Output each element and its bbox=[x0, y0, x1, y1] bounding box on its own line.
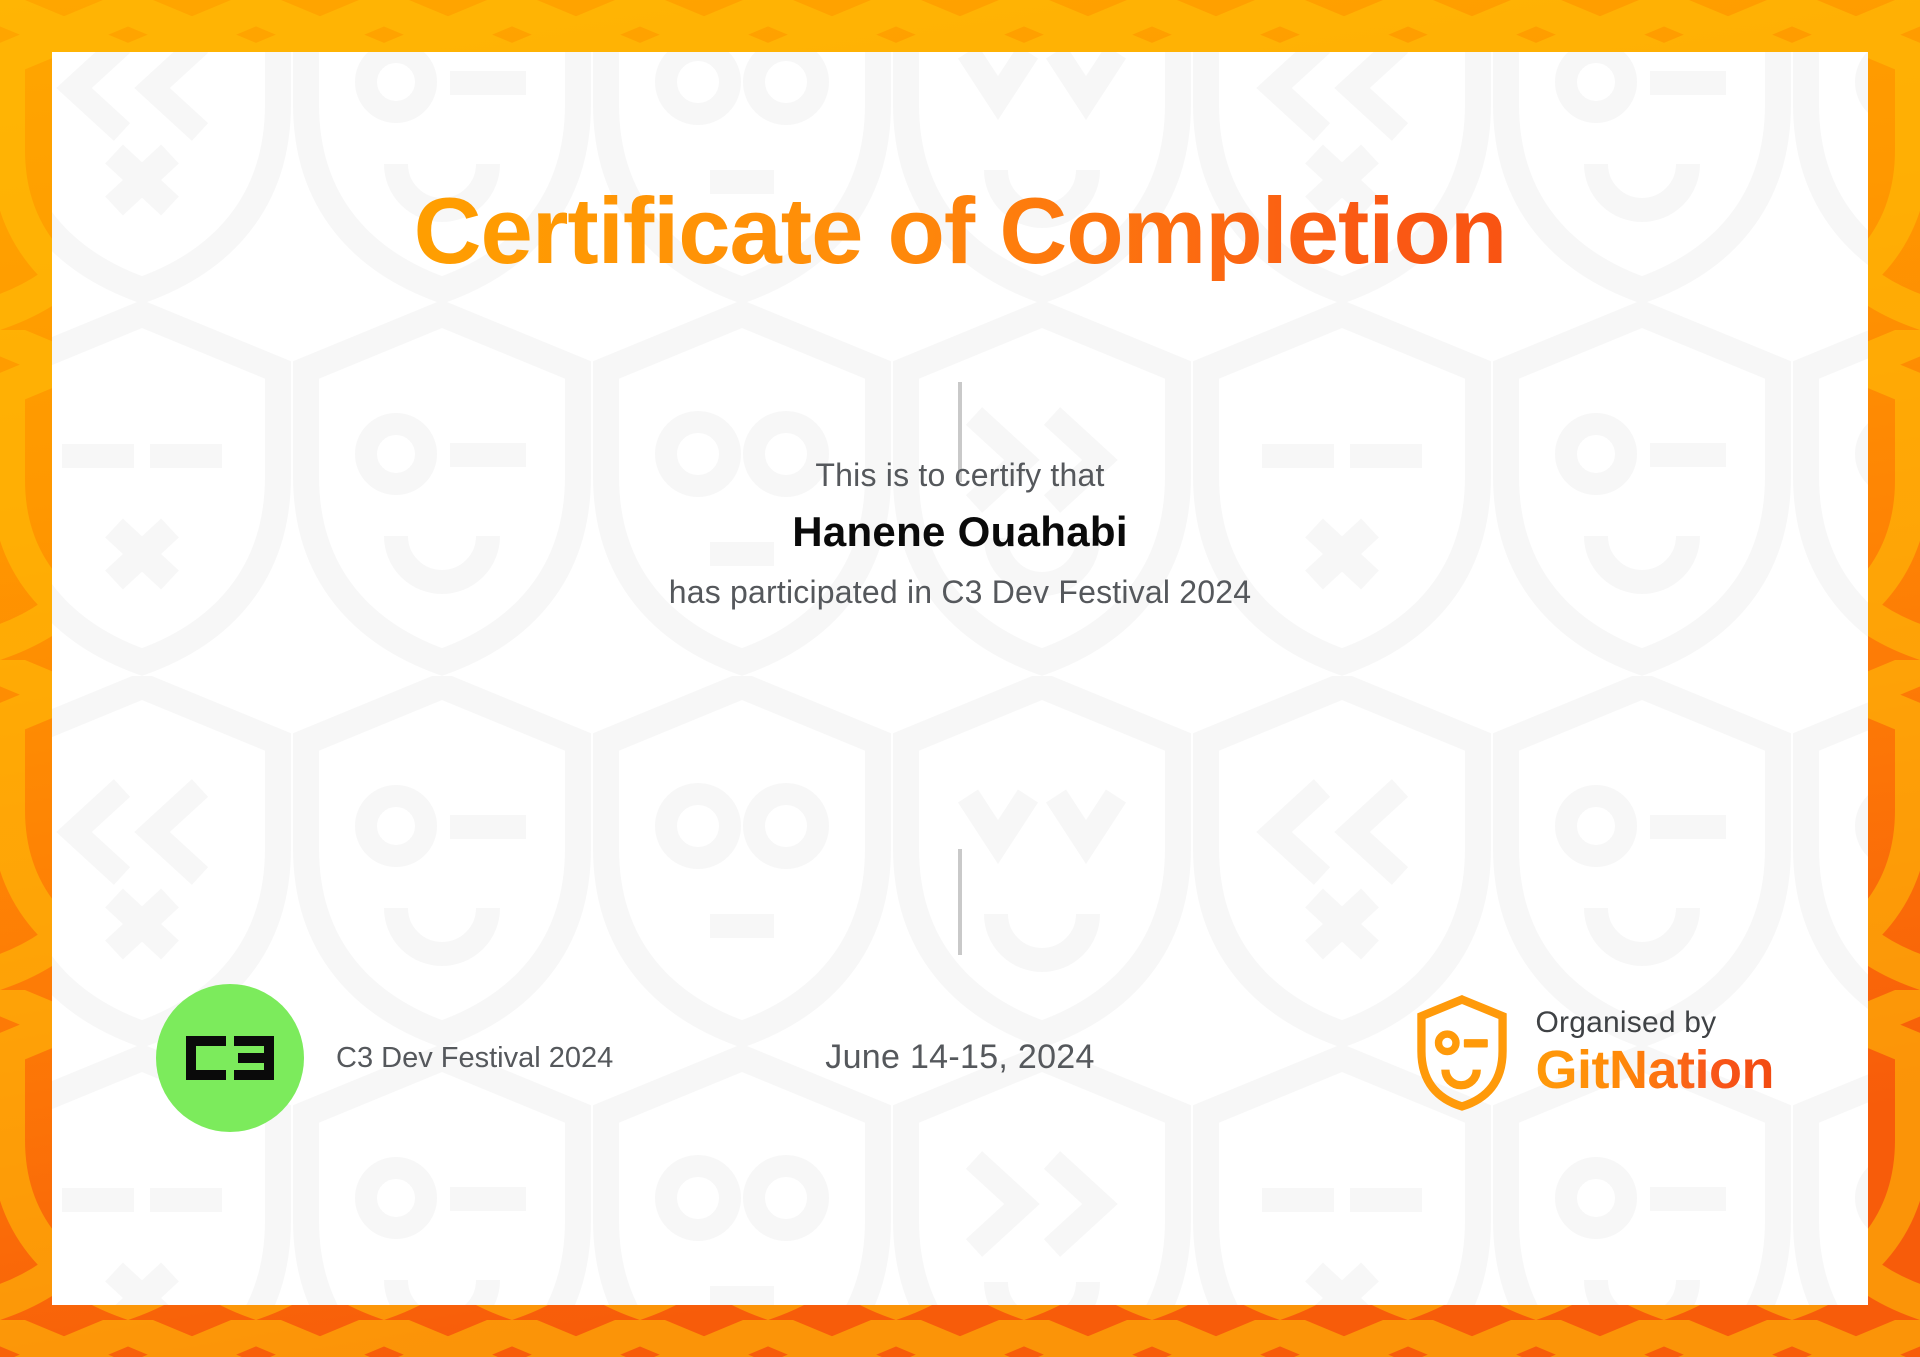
organiser-brand: Organised by GitNation bbox=[1414, 994, 1774, 1112]
page-title: Certificate of Completion bbox=[52, 182, 1868, 281]
event-brand: C3 Dev Festival 2024 bbox=[156, 984, 613, 1132]
divider-bottom bbox=[958, 849, 962, 955]
certificate-footer: C3 Dev Festival 2024 June 14-15, 2024 Or… bbox=[52, 984, 1868, 1184]
certificate: Certificate of Completion This is to cer… bbox=[0, 0, 1920, 1357]
participation-line: has participated in C3 Dev Festival 2024 bbox=[52, 574, 1868, 611]
recipient-name: Hanene Ouahabi bbox=[52, 508, 1868, 556]
event-date: June 14-15, 2024 bbox=[825, 1038, 1094, 1077]
event-brand-label: C3 Dev Festival 2024 bbox=[336, 1042, 613, 1075]
organiser-wordmark: GitNation bbox=[1536, 1041, 1774, 1100]
gitnation-shield-icon bbox=[1414, 994, 1510, 1112]
organiser-prefix: Organised by bbox=[1536, 1006, 1774, 1041]
c3-logo-icon bbox=[156, 984, 304, 1132]
certify-line: This is to certify that bbox=[52, 457, 1868, 494]
certificate-card: Certificate of Completion This is to cer… bbox=[52, 52, 1868, 1305]
